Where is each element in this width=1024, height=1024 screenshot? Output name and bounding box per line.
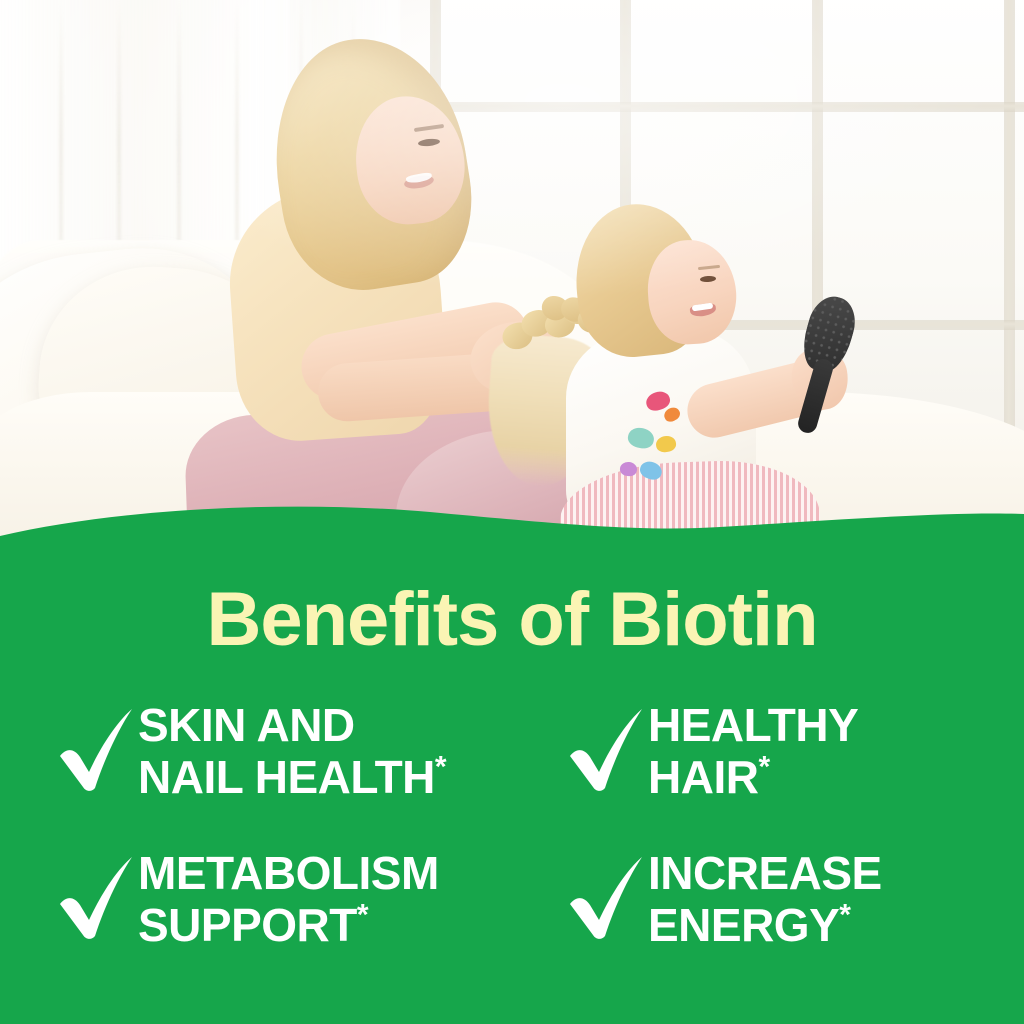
footnote-asterisk: * [435,750,446,783]
footnote-asterisk: * [758,750,769,783]
benefit-line-2: ENERGY* [648,900,882,952]
benefit-line-1: METABOLISM [138,848,439,900]
checkmark-icon [56,704,138,792]
benefit-item-metabolism-support: METABOLISM SUPPORT* [56,846,566,994]
benefit-item-increase-energy: INCREASE ENERGY* [566,846,984,994]
benefit-line-2: SUPPORT* [138,900,439,952]
benefit-item-healthy-hair: HEALTHY HAIR* [566,698,984,846]
benefit-line-1: INCREASE [648,848,882,900]
benefits-grid: SKIN AND NAIL HEALTH* HEALTHY HAIR* [56,698,984,994]
footnote-asterisk: * [839,898,850,931]
checkmark-icon [566,852,648,940]
benefit-item-skin-and-nail-health: SKIN AND NAIL HEALTH* [56,698,566,846]
checkmark-icon [56,852,138,940]
product-benefits-banner: Benefits of Biotin SKIN AND NAIL HEALTH* [0,0,1024,1024]
benefit-label: INCREASE ENERGY* [648,846,882,951]
benefit-line-2: NAIL HEALTH* [138,752,446,804]
benefit-line-1: HEALTHY [648,700,858,752]
checkmark-icon [566,704,648,792]
footnote-asterisk: * [357,898,368,931]
benefit-label: SKIN AND NAIL HEALTH* [138,698,446,803]
benefit-line-2: HAIR* [648,752,858,804]
benefit-label: HEALTHY HAIR* [648,698,858,803]
benefit-line-1: SKIN AND [138,700,446,752]
benefits-section: Benefits of Biotin SKIN AND NAIL HEALTH* [0,560,1024,1024]
page-title: Benefits of Biotin [0,582,1024,658]
benefit-label: METABOLISM SUPPORT* [138,846,439,951]
